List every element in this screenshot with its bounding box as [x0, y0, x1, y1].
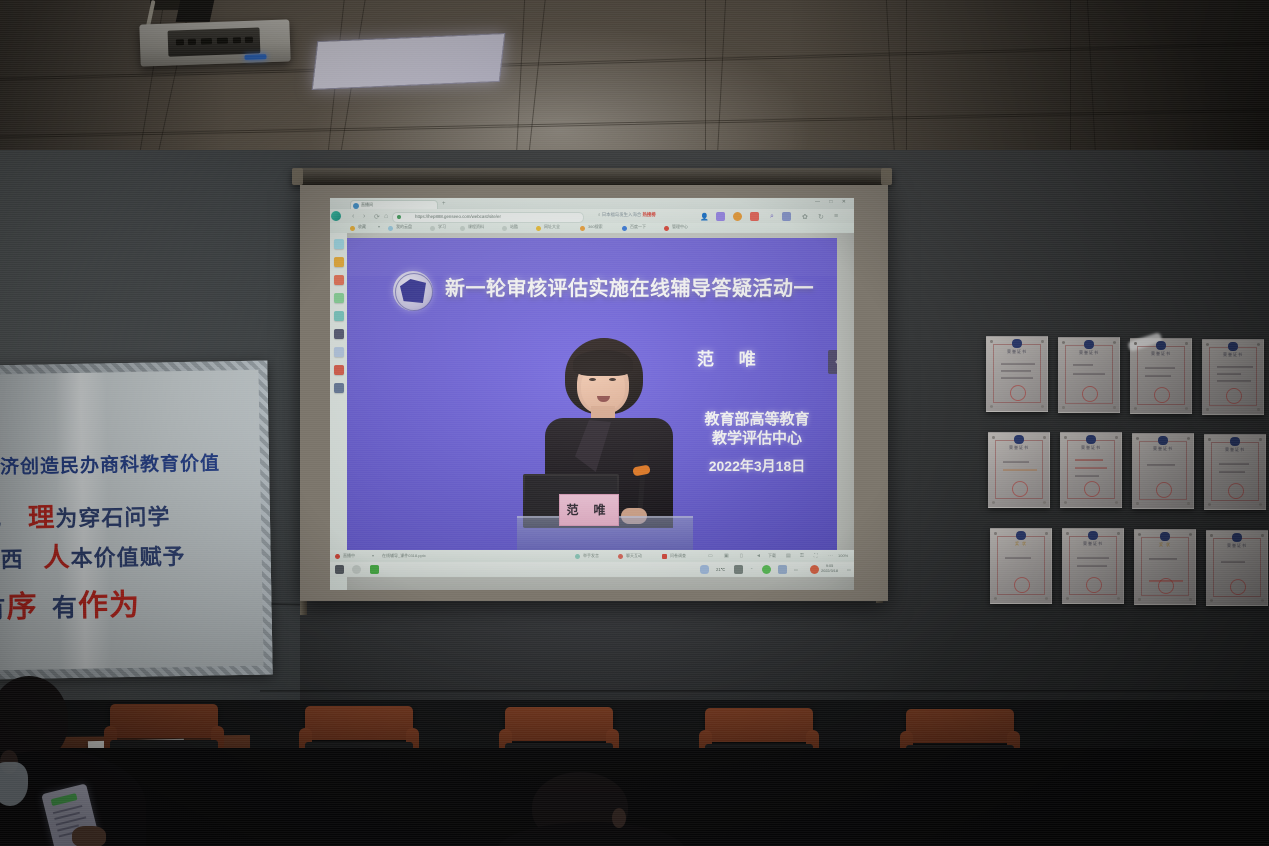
back-arrow-icon[interactable]: ‹ [352, 213, 354, 220]
banner-line-4: 有序 有作为 [0, 580, 140, 627]
bookmark-item[interactable]: 我的云盘 [396, 224, 412, 230]
framed-certificate: 荣誉证书 [1058, 337, 1120, 413]
camera-icon[interactable]: ▭ [708, 553, 713, 559]
windows-taskbar: 21℃ ⌃ ▭ 9:05 2022/3/18 ▭ [330, 562, 854, 577]
browser-title-bar: 直播间 + — □ ✕ [330, 198, 854, 209]
bookmark-item[interactable]: 管理中心 [672, 224, 688, 230]
framed-certificate: 荣誉证书 [986, 336, 1048, 412]
framed-certificate: 奖 状 [990, 528, 1052, 604]
taskbar-clock[interactable]: 9:05 2022/3/18 [821, 564, 838, 574]
attendee-seated [508, 772, 668, 846]
address-bar-url: https://hep888.genseeo.com/webcast/site/… [415, 214, 501, 219]
app-sidebar [330, 233, 347, 590]
more-icon[interactable]: ⋯ [828, 553, 833, 559]
history-icon[interactable]: ↻ [818, 213, 824, 221]
forward-arrow-icon[interactable]: › [363, 213, 365, 220]
notification-icon[interactable]: ▭ [847, 567, 851, 572]
slide-organization: 教育部高等教育 教学评估中心 [677, 410, 837, 448]
cursor-icon[interactable]: ◄ [756, 553, 761, 559]
bookmark-item[interactable]: 课程资料 [468, 224, 484, 230]
bookmarks-bar: 收藏 ▾ 我的云盘 学习 课程资料 站酷 网址大全 360搜索 百度一下 管理中… [330, 223, 854, 233]
collection-icon[interactable] [716, 212, 725, 221]
screen-housing [292, 168, 892, 185]
media-icon[interactable] [334, 365, 344, 375]
certificate-wall: 荣誉证书 荣誉证书 荣誉证书 [986, 336, 1269, 602]
start-icon[interactable] [335, 565, 344, 574]
framed-certificate: 荣誉证书 [1060, 432, 1122, 508]
cloud-icon[interactable] [334, 311, 344, 321]
live-status-label: 直播中 [343, 553, 355, 559]
reload-icon[interactable]: ⟳ [374, 213, 380, 221]
network-icon[interactable] [762, 565, 771, 574]
tools-icon[interactable] [334, 383, 344, 393]
slide-title: 新一轮审核评估实施在线辅导答疑活动一 [445, 272, 814, 301]
bookmark-item[interactable]: 网址大全 [544, 224, 560, 230]
slide-date: 2022年3月18日 [677, 456, 837, 476]
favorites-icon[interactable] [750, 212, 759, 221]
organization-line-2: 教学评估中心 [677, 429, 837, 448]
wechat-icon[interactable] [370, 565, 379, 574]
institution-emblem-icon [393, 271, 433, 311]
chevron-up-icon[interactable]: ⌃ [750, 567, 754, 572]
shield-icon[interactable] [733, 212, 742, 221]
bookmark-item[interactable]: 站酷 [510, 224, 518, 230]
browser-tab-title: 直播间 [361, 202, 373, 208]
framed-certificate: 荣誉证书 [1206, 530, 1268, 606]
nameplate-text: 范 唯 [560, 501, 618, 518]
bookmark-item[interactable]: 收藏 [358, 224, 366, 230]
search-box[interactable]: ⌕ 日本福岛发生入海合 热搜榜 [598, 212, 692, 221]
banner-line-2: 化 理为穿石问学 [0, 493, 171, 535]
files-icon[interactable] [334, 347, 344, 357]
zoom-level-label[interactable]: 100% [838, 553, 848, 558]
presentation-slide: 新一轮审核评估实施在线辅导答疑活动一 [347, 238, 837, 550]
status-button-raise-hand[interactable]: 举手发言 [583, 553, 599, 559]
organization-line-1: 教育部高等教育 [677, 410, 837, 429]
layout-icon[interactable]: ▤ [786, 553, 791, 559]
weather-icon[interactable] [700, 565, 709, 574]
framed-certificate: 荣誉证书 [1062, 528, 1124, 604]
framed-certificate: 荣誉证书 [1204, 434, 1266, 510]
projector-led-icon [244, 54, 266, 60]
screenshot-root: 经济创造民办商科教育价值 化 理为穿石问学 中西 人本价值赋予 有序 有作为 直… [0, 0, 1269, 846]
menu-icon[interactable]: ≡ [834, 213, 838, 220]
clock-date: 2022/3/18 [821, 569, 838, 574]
banner-line-3: 中西 人本价值赋予 [0, 533, 186, 576]
calculator-icon[interactable] [334, 329, 344, 339]
input-method-icon[interactable] [734, 565, 743, 574]
wall-banner: 经济创造民办商科教育价值 化 理为穿石问学 中西 人本价值赋予 有序 有作为 [0, 361, 273, 680]
webcast-status-bar: 直播中 ▾ 在线辅导_课件0318.pptx 举手发言 聊天互动 问卷调查 ▭ … [330, 550, 854, 562]
mic-icon[interactable]: ▯ [740, 553, 743, 559]
slide-speaker-name: 范 唯 [697, 345, 766, 370]
browser-logo-icon [331, 211, 341, 221]
volume-icon[interactable] [778, 565, 787, 574]
search-icon[interactable] [352, 565, 361, 574]
bookmark-item[interactable]: 360搜索 [588, 224, 603, 230]
status-button-survey[interactable]: 问卷调查 [670, 553, 686, 559]
messenger-icon[interactable] [334, 239, 344, 249]
fullscreen-icon[interactable]: ⛶ [814, 553, 818, 559]
lock-icon[interactable]: ⚿ [800, 553, 804, 559]
window-controls[interactable]: — □ ✕ [815, 199, 850, 205]
address-bar[interactable]: https://hep888.genseeo.com/webcast/site/… [392, 212, 584, 223]
settings-gear-icon[interactable]: ✿ [802, 213, 808, 221]
photos-icon[interactable] [334, 257, 344, 267]
framed-certificate: 荣誉证书 [1132, 433, 1194, 509]
notes-icon[interactable] [334, 293, 344, 303]
framed-certificate: 荣誉证书 [1130, 338, 1192, 414]
new-tab-button[interactable]: + [442, 201, 446, 207]
search-placeholder: 日本福岛发生入海合 [602, 212, 642, 217]
globe-icon [353, 203, 359, 209]
framed-certificate: 奖 状 [1134, 529, 1196, 605]
panel-collapse-button[interactable]: « [828, 350, 837, 374]
bookmark-item[interactable]: 学习 [438, 224, 446, 230]
download-label[interactable]: 下载 [768, 553, 776, 559]
camera-icon[interactable] [334, 275, 344, 285]
screen-icon[interactable]: ▣ [724, 553, 729, 559]
projection-screen: 直播间 + — □ ✕ ‹ › ⟳ ⌂ https://hep888.gense… [330, 198, 854, 590]
account-icon[interactable]: 👤 [700, 213, 709, 221]
bookmark-item[interactable]: 百度一下 [630, 224, 646, 230]
lock-icon [397, 215, 401, 219]
battery-icon[interactable]: ▭ [794, 567, 798, 572]
status-button-chat[interactable]: 聊天互动 [626, 553, 642, 559]
tray-app-icon[interactable] [810, 565, 819, 574]
framed-certificate: 荣誉证书 [988, 432, 1050, 508]
banner-line-1: 经济创造民办商科教育价值 [0, 448, 220, 479]
hot-search-label[interactable]: 热搜榜 [642, 212, 655, 217]
presenter-video: 范 唯 [517, 338, 697, 550]
presenter-nameplate: 范 唯 [559, 494, 619, 526]
document-name-label: 在线辅导_课件0318.pptx [382, 553, 426, 559]
weather-label: 21℃ [716, 567, 725, 572]
home-icon[interactable]: ⌂ [384, 213, 388, 220]
apps-grid-icon[interactable] [782, 212, 791, 221]
framed-certificate: 荣誉证书 [1202, 339, 1264, 415]
zoom-icon[interactable]: ⌕ [770, 213, 774, 221]
